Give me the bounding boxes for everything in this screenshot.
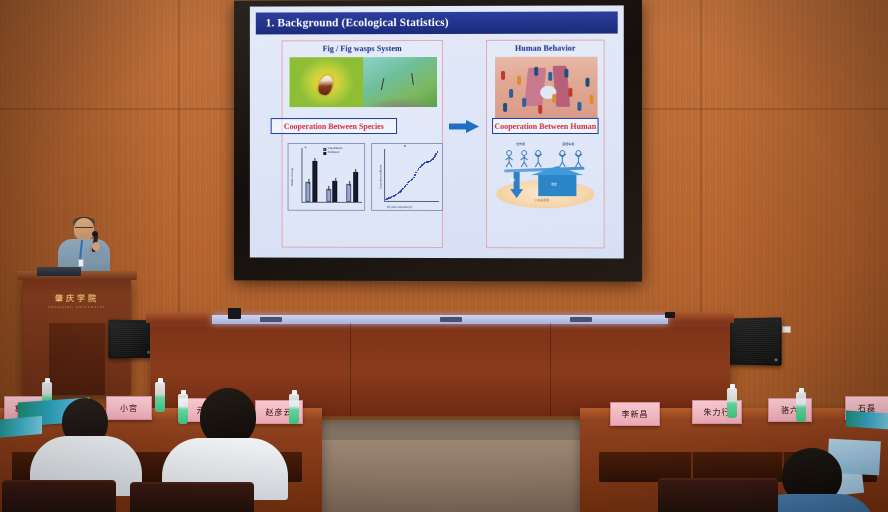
name-badge xyxy=(78,259,84,267)
bar-chart: A Number of wasps Unpollinated Pollinate… xyxy=(288,143,366,211)
diagram-label-benefit: 收益 xyxy=(551,182,557,186)
left-panel-heading: Fig / Fig wasps System xyxy=(283,44,442,53)
scatter-point xyxy=(414,174,416,176)
diagram-label-cooperators: 合作者 xyxy=(516,142,525,146)
projected-slide: 1. Background (Ecological Statistics) Fi… xyxy=(250,5,624,258)
scatter-point xyxy=(434,155,436,157)
scatter-point xyxy=(433,157,435,159)
cost-arrow-down-icon xyxy=(510,172,523,198)
scatter-point xyxy=(432,158,434,160)
fig-wasps-photo xyxy=(363,57,437,107)
scatter-point xyxy=(400,190,402,192)
audience-chair xyxy=(130,482,254,512)
scatter-point xyxy=(405,185,407,187)
water-bottle xyxy=(289,394,299,424)
bar xyxy=(306,182,311,202)
presenter-hand xyxy=(92,242,100,251)
power-outlet xyxy=(782,326,791,333)
slide-title-bar: 1. Background (Ecological Statistics) xyxy=(256,11,618,34)
desk-microphone-base xyxy=(228,308,241,319)
desk-nameplate-slot xyxy=(440,317,462,322)
slide-title: 1. Background (Ecological Statistics) xyxy=(266,17,449,29)
bar-group xyxy=(326,149,337,202)
conference-booklet xyxy=(846,410,888,429)
diagram-label-freeriders: 搭便车者 xyxy=(562,142,574,146)
scatter-point xyxy=(418,168,420,170)
conference-hall-scene: 1. Background (Ecological Statistics) Fi… xyxy=(0,0,888,512)
scatter-ylabel: Cooperation coefficient xyxy=(380,153,383,201)
bar-group xyxy=(306,149,317,202)
scatter-point xyxy=(415,172,417,174)
scatter-chart-panel-tag: B xyxy=(404,144,406,148)
water-bottle xyxy=(796,392,806,422)
bar xyxy=(346,184,351,202)
scatter-point xyxy=(435,153,437,155)
podium-base xyxy=(49,323,105,395)
scatter-point xyxy=(413,177,415,179)
public-goods-balance-diagram: 合作者 搭便车者 成本 xyxy=(490,142,601,210)
presenter-laptop xyxy=(37,267,81,276)
water-bottle xyxy=(727,388,737,418)
scatter-chart: B Fig wasp oviposition (s) Cooperation c… xyxy=(371,143,443,211)
podium-institution-en: ZHAOQING UNIVERSITY xyxy=(48,305,106,309)
cooperation-human-label-box: Cooperation Between Human xyxy=(492,118,599,134)
scatter-point xyxy=(417,170,419,172)
scatter-point xyxy=(437,151,439,153)
nameplate-left-2: 小宫 xyxy=(106,396,152,420)
water-bottle xyxy=(178,394,188,424)
bar xyxy=(333,181,338,201)
human-behavior-artwork xyxy=(495,57,597,119)
loudspeaker-left xyxy=(108,320,153,359)
bar xyxy=(326,189,331,202)
cooperation-human-label: Cooperation Between Human xyxy=(494,121,596,130)
microphone-head-icon xyxy=(92,231,98,237)
loudspeaker-right xyxy=(728,317,782,365)
nameplate-text: 李新昌 xyxy=(622,409,649,420)
desk-nameplate-slot xyxy=(570,317,592,322)
projection-screen: 1. Background (Ecological Statistics) Fi… xyxy=(234,0,642,282)
podium-plaque: 肇庆学院 ZHAOQING UNIVERSITY xyxy=(39,291,115,313)
nameplate-text: 小宫 xyxy=(120,403,138,414)
right-panel-heading: Human Behavior xyxy=(487,44,604,53)
scatter-xlabel: Fig wasp oviposition (s) xyxy=(387,206,412,209)
scatter-point xyxy=(412,178,414,180)
cooperation-species-label: Cooperation Between Species xyxy=(284,122,384,131)
bar-chart-ylabel: Number of wasps xyxy=(291,152,294,202)
benefit-house-shape xyxy=(538,174,576,196)
nameplate-right-1: 李新昌 xyxy=(610,402,660,426)
cooperation-species-label-box: Cooperation Between Species xyxy=(271,118,397,134)
water-bottle xyxy=(155,382,165,412)
audience-chair xyxy=(658,478,778,512)
diagram-label-resource-pool: 公共资源池 xyxy=(534,198,549,202)
stage-front-panel xyxy=(318,440,586,512)
fig-cross-section-photo xyxy=(290,57,364,107)
scatter-point xyxy=(406,183,408,185)
bar xyxy=(353,171,358,201)
desk-nameplate-slot xyxy=(260,317,282,322)
fig-photos-group xyxy=(290,57,437,107)
glasses-icon xyxy=(75,227,93,231)
desk-microphone-base xyxy=(665,312,675,318)
blue-right-arrow-icon xyxy=(449,120,479,133)
bar xyxy=(312,161,317,202)
bar-group xyxy=(346,149,357,202)
podium-institution-cn: 肇庆学院 xyxy=(55,295,99,303)
audience-chair xyxy=(2,480,116,512)
diagram-label-cost: 成本 xyxy=(510,178,515,182)
